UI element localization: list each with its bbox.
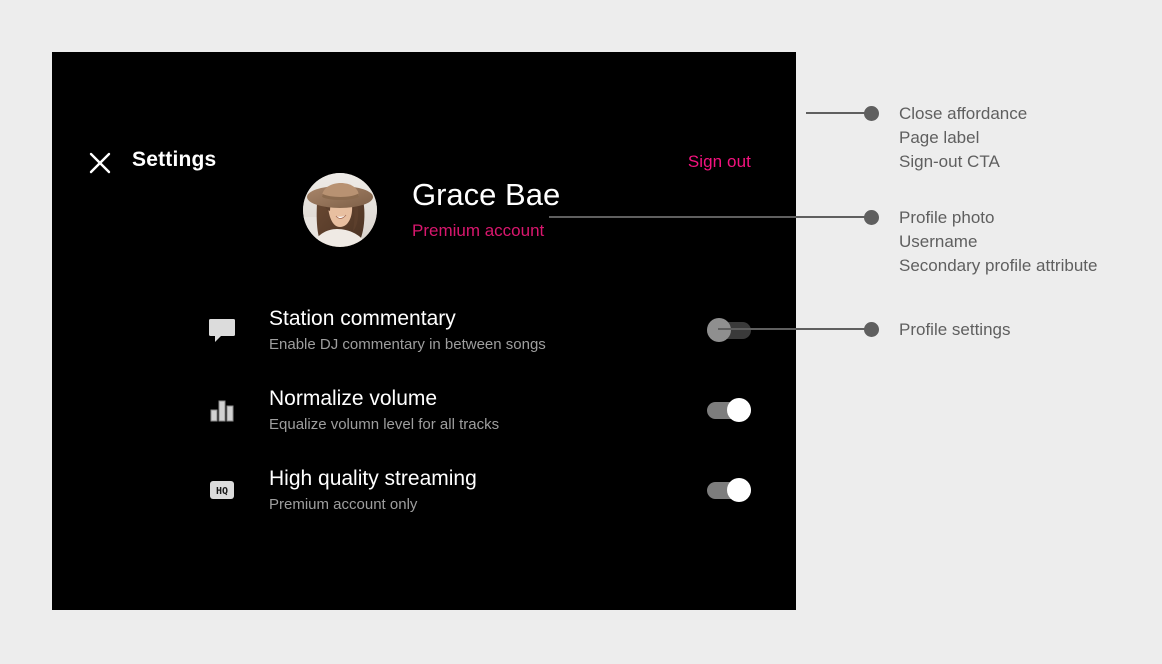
- close-x-icon: [89, 152, 111, 174]
- row-title: Station commentary: [269, 307, 546, 331]
- row-subtitle: Premium account only: [269, 496, 477, 513]
- annotation-text: Username: [899, 230, 977, 254]
- annotation-text: Profile photo: [899, 206, 994, 230]
- profile-attribute: Premium account: [412, 221, 560, 241]
- annotation-text: Profile settings: [899, 318, 1011, 342]
- toggle-thumb: [707, 318, 731, 342]
- row-subtitle: Equalize volumn level for all tracks: [269, 416, 499, 433]
- speech-bubble-icon: [202, 310, 242, 350]
- settings-row-high-quality-streaming[interactable]: HQ High quality streaming Premium accoun…: [52, 450, 796, 530]
- hq-badge-icon: HQ: [202, 470, 242, 510]
- annotation-text: Secondary profile attribute: [899, 254, 1097, 278]
- toggle-station-commentary[interactable]: [707, 318, 751, 342]
- profile-photo-woman-in-hat: [303, 173, 377, 247]
- settings-list: Station commentary Enable DJ commentary …: [52, 290, 796, 530]
- annotation-text: Sign-out CTA: [899, 150, 1000, 174]
- avatar[interactable]: [303, 173, 377, 247]
- profile-block: Grace Bae Premium account: [303, 173, 560, 247]
- row-text: Normalize volume Equalize volumn level f…: [269, 387, 499, 434]
- equalizer-bars-icon: [202, 390, 242, 430]
- row-title: High quality streaming: [269, 467, 477, 491]
- settings-row-normalize-volume[interactable]: Normalize volume Equalize volumn level f…: [52, 370, 796, 450]
- annotation-dot: [864, 210, 879, 225]
- settings-row-station-commentary[interactable]: Station commentary Enable DJ commentary …: [52, 290, 796, 370]
- settings-panel: Settings Sign out: [52, 52, 796, 610]
- row-subtitle: Enable DJ commentary in between songs: [269, 336, 546, 353]
- annotation-text: Close affordance: [899, 102, 1027, 126]
- row-text: Station commentary Enable DJ commentary …: [269, 307, 546, 354]
- toggle-thumb: [727, 398, 751, 422]
- row-text: High quality streaming Premium account o…: [269, 467, 477, 514]
- annotation-dot: [864, 322, 879, 337]
- annotation-leader-line: [806, 112, 872, 114]
- app-bar: Settings Sign out: [52, 52, 796, 170]
- profile-name: Grace Bae: [412, 179, 560, 212]
- annotation-text: Page label: [899, 126, 979, 150]
- svg-text:HQ: HQ: [216, 486, 228, 497]
- close-button[interactable]: [78, 141, 122, 185]
- toggle-high-quality-streaming[interactable]: [707, 478, 751, 502]
- annotation-dot: [864, 106, 879, 121]
- page-title: Settings: [132, 148, 216, 172]
- toggle-thumb: [727, 478, 751, 502]
- sign-out-button[interactable]: Sign out: [688, 152, 751, 172]
- row-title: Normalize volume: [269, 387, 499, 411]
- profile-text: Grace Bae Premium account: [412, 179, 560, 241]
- toggle-normalize-volume[interactable]: [707, 398, 751, 422]
